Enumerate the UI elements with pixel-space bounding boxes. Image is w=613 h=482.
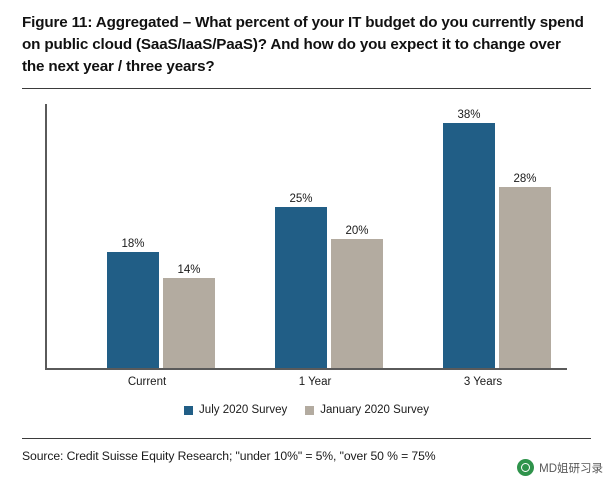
chart-legend: July 2020 Survey January 2020 Survey <box>22 404 591 416</box>
bar-label-july-3-years: 38% <box>443 109 495 121</box>
bar-group-3-years: 38% 28% 3 Years <box>399 96 567 368</box>
figure-title: Figure 11: Aggregated – What percent of … <box>22 12 584 78</box>
bar-january-3-years <box>499 187 551 368</box>
chart-area: 18% 14% Current 25% 20% 1 Year <box>22 96 591 396</box>
watermark-text: MD姐研习录 <box>539 460 603 476</box>
bar-january-1-year <box>331 239 383 368</box>
bar-january-current <box>163 278 215 368</box>
bar-label-july-current: 18% <box>107 238 159 250</box>
source-note: Source: Credit Suisse Equity Research; "… <box>22 449 522 463</box>
bar-july-1-year <box>275 207 327 368</box>
title-divider <box>22 88 591 89</box>
bar-label-january-1-year: 20% <box>331 225 383 237</box>
bar-group-current: 18% 14% Current <box>63 96 231 368</box>
category-label-1-year: 1 Year <box>231 376 399 388</box>
bars-1-year: 25% 20% <box>231 96 399 368</box>
category-label-3-years: 3 Years <box>399 376 567 388</box>
bar-july-3-years <box>443 123 495 368</box>
legend-item-january-2020-survey: January 2020 Survey <box>305 404 429 416</box>
plot-region: 18% 14% Current 25% 20% 1 Year <box>45 96 567 368</box>
bar-label-july-1-year: 25% <box>275 193 327 205</box>
bar-label-january-3-years: 28% <box>499 173 551 185</box>
bar-label-january-current: 14% <box>163 264 215 276</box>
footer-divider <box>22 438 591 439</box>
bar-july-current <box>107 252 159 368</box>
legend-swatch-january <box>305 406 314 415</box>
watermark: MD姐研习录 <box>517 459 603 476</box>
category-label-current: Current <box>63 376 231 388</box>
figure-page: Figure 11: Aggregated – What percent of … <box>0 0 613 482</box>
bars-3-years: 38% 28% <box>399 96 567 368</box>
watermark-logo-icon <box>517 459 534 476</box>
bars-current: 18% 14% <box>63 96 231 368</box>
legend-label-july: July 2020 Survey <box>199 404 287 416</box>
legend-item-july-2020-survey: July 2020 Survey <box>184 404 287 416</box>
legend-swatch-july <box>184 406 193 415</box>
bar-group-1-year: 25% 20% 1 Year <box>231 96 399 368</box>
legend-label-january: January 2020 Survey <box>320 404 429 416</box>
x-axis-line <box>45 368 567 370</box>
